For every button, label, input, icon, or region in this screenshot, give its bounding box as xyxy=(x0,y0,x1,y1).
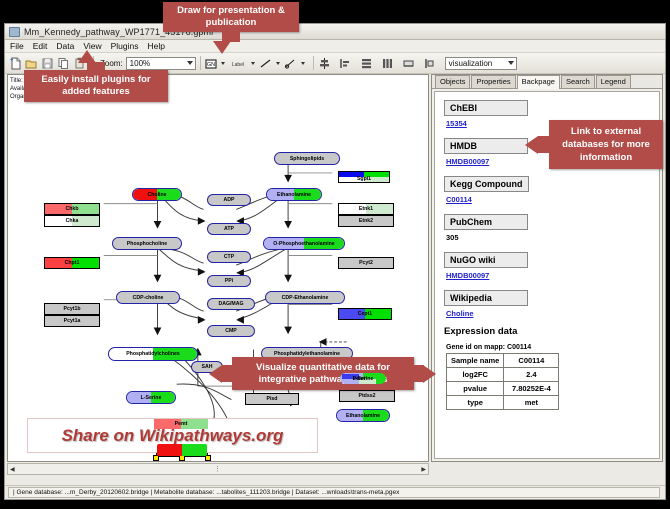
callout-link-arrow-head xyxy=(525,136,538,154)
node-dag-mag[interactable]: DAG/MAG xyxy=(207,298,255,310)
db-link-nugo-wiki[interactable]: HMDB00097 xyxy=(446,271,659,280)
scroll-right-icon[interactable]: ▶ xyxy=(419,466,428,473)
chevron-down-icon xyxy=(508,61,514,65)
node-ctp[interactable]: CTP xyxy=(207,251,251,263)
expr-value-log2fc: 2.4 xyxy=(504,368,559,382)
line-dropdown-icon[interactable] xyxy=(276,62,280,65)
visualization-value: visualization xyxy=(449,59,493,68)
gene-id-on-mapp: Gene id on mapp: C00114 xyxy=(446,344,659,351)
pathvisio-icon xyxy=(9,26,20,37)
chevron-down-icon xyxy=(187,61,193,65)
node-l-serine-left[interactable]: L-Serine xyxy=(126,391,176,404)
expr-value-type: met xyxy=(504,396,559,410)
gene-etnk1[interactable]: Etnk1 xyxy=(338,203,394,215)
anchor-dropdown-icon[interactable] xyxy=(301,62,305,65)
db-link-kegg-compound[interactable]: C00114 xyxy=(446,195,659,204)
node-cdp-ethanolamine[interactable]: CDP-Ethanolamine xyxy=(265,291,345,304)
node-atp[interactable]: ATP xyxy=(207,223,251,235)
expr-value-sample-name: C00114 xyxy=(504,354,559,368)
gene-etnk2[interactable]: Etnk2 xyxy=(338,215,394,227)
new-file-icon[interactable] xyxy=(9,57,22,70)
callout-draw: Draw for presentation & publication xyxy=(163,2,299,32)
callout-plugins-arrow-head xyxy=(78,50,96,63)
table-row: log2FC 2.4 xyxy=(447,368,559,382)
toolbar-separator-2 xyxy=(200,56,201,70)
label-dropdown-icon[interactable] xyxy=(251,62,255,65)
status-text: | Gene database: ...m_Derby_20120602.bri… xyxy=(13,489,399,496)
gene-pcyt2[interactable]: Pcyt2 xyxy=(338,257,394,269)
gene-chpt1[interactable]: Chpt1 xyxy=(44,257,100,269)
stack-vertical-icon[interactable] xyxy=(360,57,373,70)
open-folder-icon[interactable] xyxy=(25,57,38,70)
align-center-icon[interactable] xyxy=(318,57,331,70)
db-header-nugo-wiki: NuGO wiki xyxy=(444,252,528,268)
order-icon[interactable] xyxy=(423,57,436,70)
zoom-value: 100% xyxy=(130,59,150,68)
callout-draw-arrow-head xyxy=(213,41,231,54)
db-header-chebi: ChEBI xyxy=(444,100,528,116)
group-icon[interactable] xyxy=(402,57,415,70)
menu-item-data[interactable]: Data xyxy=(56,41,74,51)
side-panel-tabs: Objects Properties Backpage Search Legen… xyxy=(432,75,662,89)
expr-value-pvalue: 7.80252E-4 xyxy=(504,382,559,396)
db-value-pubchem: 305 xyxy=(446,233,659,242)
expr-label-sample-name: Sample name xyxy=(447,354,504,368)
db-header-wikipedia: Wikipedia xyxy=(444,290,528,306)
expr-label-type: type xyxy=(447,396,504,410)
expr-label-log2fc: log2FC xyxy=(447,368,504,382)
callout-visualize-arrow-stem-left xyxy=(222,365,234,382)
node-choline-selected[interactable]: Choline xyxy=(156,443,208,457)
svg-text:Label: Label xyxy=(232,62,244,68)
table-row: type met xyxy=(447,396,559,410)
node-ethanolamine-top[interactable]: Ethanolamine xyxy=(266,188,322,201)
node-phosphocholine[interactable]: Phosphocholine xyxy=(112,237,182,250)
callout-visualize: Visualize quantitative data for integrat… xyxy=(232,357,414,390)
datanode-dropdown-icon[interactable] xyxy=(221,62,225,65)
db-header-hmdb: HMDB xyxy=(444,138,528,154)
gene-sgpl1[interactable]: Sgpl1 xyxy=(338,171,390,183)
pathway-canvas[interactable]: Title: Availa Organ xyxy=(7,74,429,462)
gene-cept1[interactable]: Cept1 xyxy=(338,308,392,320)
node-sphingolipids[interactable]: Sphingolipids xyxy=(274,152,340,165)
expression-data-heading: Expression data xyxy=(444,326,659,337)
copy-icon[interactable] xyxy=(57,57,70,70)
node-adp[interactable]: ADP xyxy=(207,194,251,206)
status-bar: | Gene database: ...m_Derby_20120602.bri… xyxy=(5,485,665,499)
tab-search[interactable]: Search xyxy=(561,75,595,88)
callout-plugins: Easily install plugins for added feature… xyxy=(24,70,168,102)
table-row: Sample name C00114 xyxy=(447,354,559,368)
canvas-hscrollbar[interactable]: ◀ ⋮ ▶ xyxy=(7,463,429,475)
scroll-thumb[interactable]: ⋮ xyxy=(214,465,222,473)
node-phosphatidylcholines[interactable]: Phosphatidylcholines xyxy=(108,347,198,361)
db-link-wikipedia[interactable]: Choline xyxy=(446,309,659,318)
status-bar-inner: | Gene database: ...m_Derby_20120602.bri… xyxy=(8,487,660,498)
menu-item-plugins[interactable]: Plugins xyxy=(111,41,139,51)
window-title-bar: Mm_Kennedy_pathway_WP1771_45176.gpml xyxy=(5,24,665,40)
tab-legend[interactable]: Legend xyxy=(596,75,631,88)
gene-pcyt1a[interactable]: Pcyt1a xyxy=(44,315,100,327)
scroll-left-icon[interactable]: ◀ xyxy=(8,466,17,473)
callout-link: Link to external databases for more info… xyxy=(549,120,663,169)
fill-green xyxy=(182,444,207,456)
node-o-phosphoethanolamine[interactable]: O-Phosphoethanolamine xyxy=(263,237,345,250)
fill-red xyxy=(157,444,182,456)
tab-properties[interactable]: Properties xyxy=(471,75,515,88)
node-cmp[interactable]: CMP xyxy=(207,325,255,337)
node-cdp-choline[interactable]: CDP-choline xyxy=(116,291,180,304)
distribute-icon[interactable] xyxy=(381,57,394,70)
table-row: pvalue 7.80252E-4 xyxy=(447,382,559,396)
gene-ptdss2[interactable]: Ptdss2 xyxy=(339,390,395,402)
align-left-icon[interactable] xyxy=(339,57,352,70)
menu-item-edit[interactable]: Edit xyxy=(33,41,48,51)
callout-visualize-arrow-head-right xyxy=(423,365,436,383)
menu-bar: File Edit Data View Plugins Help xyxy=(5,40,665,53)
gene-chka[interactable]: Chka xyxy=(44,215,100,227)
callout-link-arrow-stem xyxy=(538,136,551,153)
screenshot-root: Mm_Kennedy_pathway_WP1771_45176.gpml Fil… xyxy=(0,0,670,509)
menu-item-help[interactable]: Help xyxy=(148,41,165,51)
zoom-select[interactable]: 100% xyxy=(126,57,196,70)
gene-chkb[interactable]: Chkb xyxy=(44,203,100,215)
svg-text:GN: GN xyxy=(207,62,215,68)
pathway-nodes: Sphingolipids Choline Ethanolamine ADP A… xyxy=(8,75,428,461)
db-header-kegg-compound: Kegg Compound xyxy=(444,176,529,192)
callout-plugins-arrow-stem xyxy=(87,62,105,72)
datanode-icon[interactable]: GN xyxy=(205,57,217,70)
db-header-pubchem: PubChem xyxy=(444,214,528,230)
save-icon[interactable] xyxy=(41,57,54,70)
tab-backpage[interactable]: Backpage xyxy=(517,75,560,89)
line-icon[interactable] xyxy=(259,57,272,70)
expression-table: Sample name C00114 log2FC 2.4 pvalue 7.8… xyxy=(446,353,559,410)
visualization-select[interactable]: visualization xyxy=(445,57,517,70)
node-choline-top[interactable]: Choline xyxy=(132,188,182,201)
toolbar-separator-3 xyxy=(313,56,314,70)
menu-item-file[interactable]: File xyxy=(10,41,24,51)
tab-objects[interactable]: Objects xyxy=(435,75,470,88)
anchor-icon[interactable] xyxy=(284,57,297,70)
node-ethanolamine-bottom[interactable]: Ethanolamine xyxy=(336,409,390,422)
expr-label-pvalue: pvalue xyxy=(447,382,504,396)
gene-pisd[interactable]: Pisd xyxy=(245,393,299,405)
gene-pcyt1b[interactable]: Pcyt1b xyxy=(44,303,100,315)
gene-pemt-left[interactable]: Pemt xyxy=(153,418,209,430)
label-icon[interactable]: Label xyxy=(229,57,247,70)
node-ppi[interactable]: PPi xyxy=(207,275,251,287)
